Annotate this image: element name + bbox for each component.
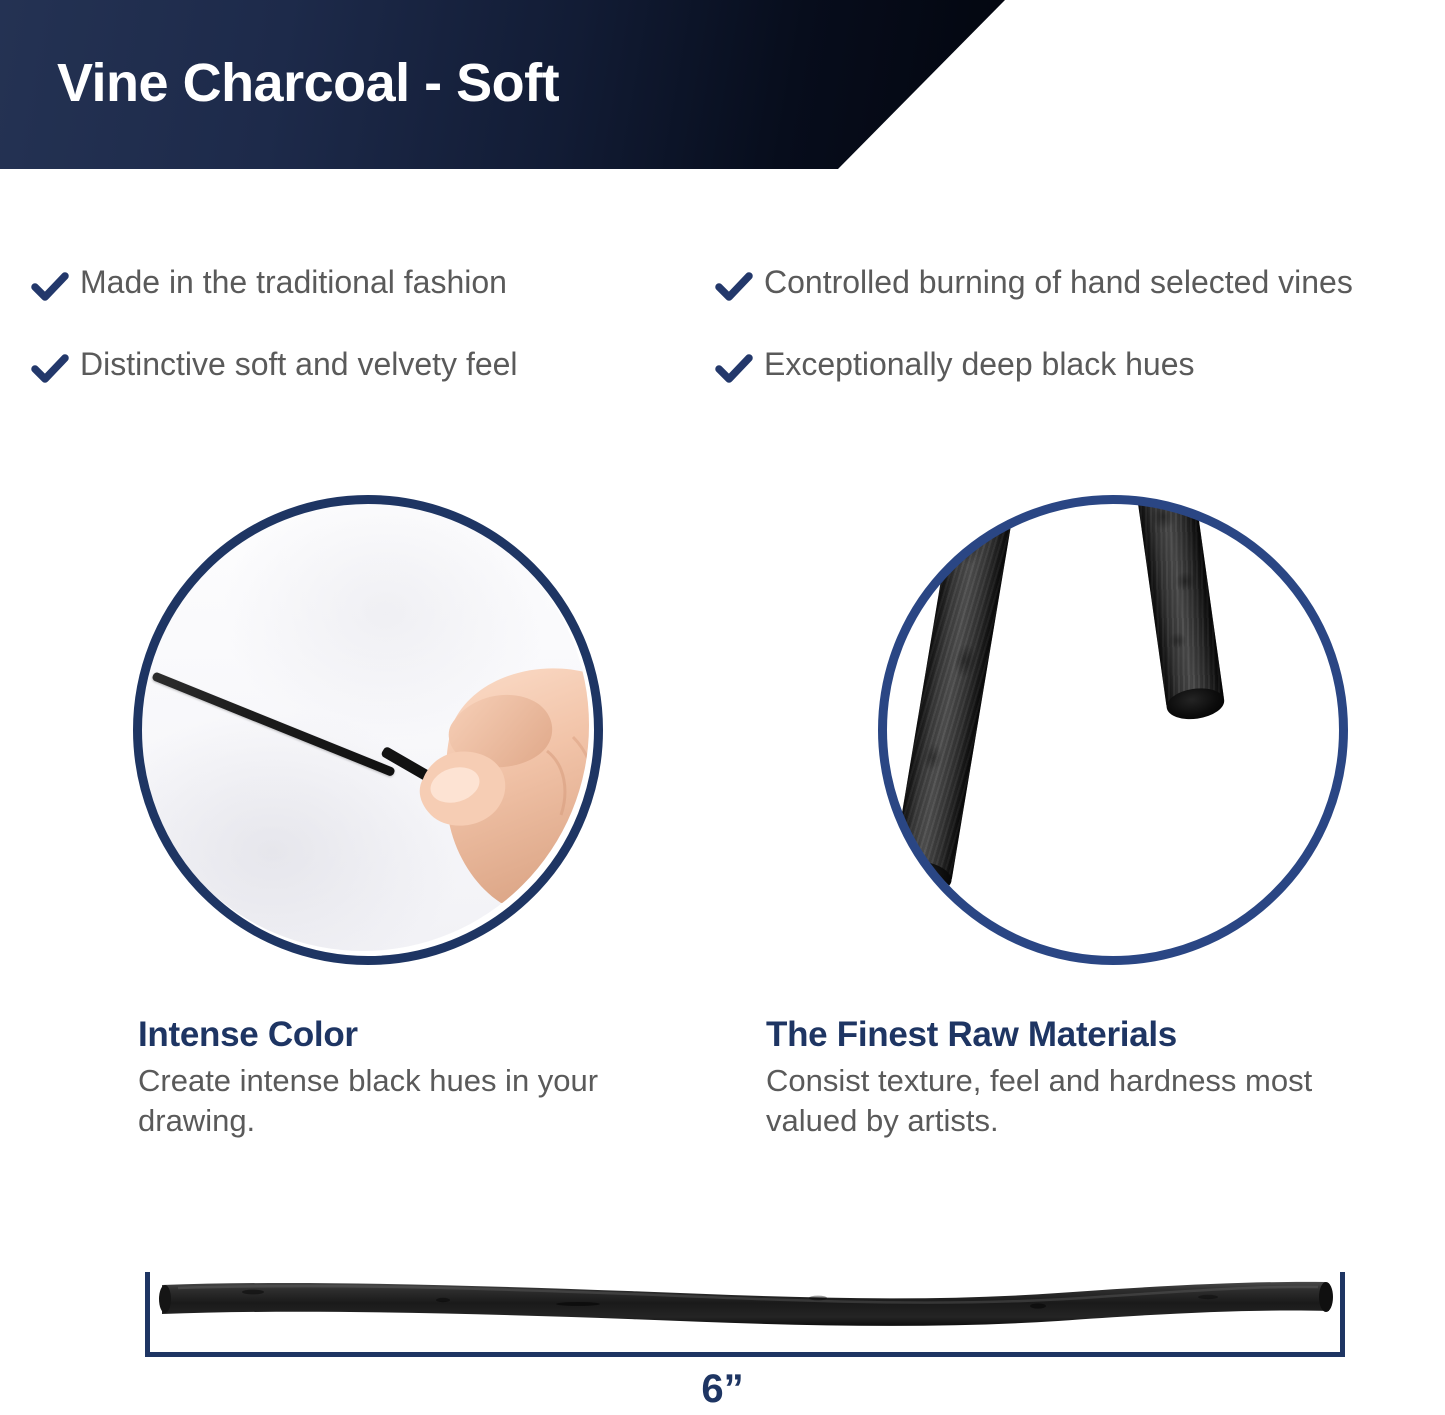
bullet-label: Made in the traditional fashion — [72, 262, 507, 303]
caption-title: The Finest Raw Materials — [766, 1015, 1386, 1055]
check-icon — [712, 348, 756, 392]
check-icon — [28, 348, 72, 392]
feature-right — [878, 495, 1445, 955]
check-icon — [28, 266, 72, 310]
page-title: Vine Charcoal - Soft — [57, 52, 559, 114]
measurement-bracket — [145, 1272, 1345, 1357]
drawing-photo — [137, 499, 589, 951]
caption-body: Consist texture, feel and hardness most … — [766, 1061, 1386, 1140]
circle-photo-left — [137, 499, 589, 951]
charcoal-rod-left — [891, 499, 1019, 888]
circle-photo-right — [882, 499, 1334, 951]
list-item: Made in the traditional fashion — [28, 262, 688, 310]
sticks-photo — [882, 499, 1334, 951]
bullet-label: Controlled burning of hand selected vine… — [756, 262, 1353, 303]
bracket-baseline — [145, 1352, 1345, 1357]
charcoal-rod-right — [1134, 499, 1225, 715]
list-item: Controlled burning of hand selected vine… — [712, 262, 1445, 310]
check-icon — [712, 266, 756, 310]
bullet-column-left: Made in the traditional fashion Distinct… — [28, 262, 688, 426]
rod-texture — [1134, 499, 1225, 715]
caption-title: Intense Color — [138, 1015, 698, 1055]
two-charcoal-sticks-photo — [878, 495, 1338, 955]
caption-right: The Finest Raw Materials Consist texture… — [766, 1015, 1386, 1141]
feature-left — [133, 495, 753, 955]
list-item: Exceptionally deep black hues — [712, 344, 1445, 392]
list-item: Distinctive soft and velvety feel — [28, 344, 688, 392]
hand-drawing-with-charcoal-photo — [133, 495, 593, 955]
header-banner: Vine Charcoal - Soft — [0, 0, 1005, 169]
hand-illustration — [351, 633, 589, 903]
bullet-label: Distinctive soft and velvety feel — [72, 344, 518, 385]
bullet-label: Exceptionally deep black hues — [756, 344, 1195, 385]
caption-body: Create intense black hues in your drawin… — [138, 1061, 698, 1140]
measurement-label: 6” — [0, 1367, 1445, 1412]
measurement-section: 6” — [0, 1255, 1445, 1415]
bullet-column-right: Controlled burning of hand selected vine… — [712, 262, 1445, 426]
bracket-tick-left — [145, 1272, 150, 1357]
rod-texture — [891, 499, 1019, 888]
bracket-tick-right — [1340, 1272, 1345, 1357]
caption-left: Intense Color Create intense black hues … — [138, 1015, 698, 1141]
feature-bullet-list: Made in the traditional fashion Distinct… — [0, 262, 1445, 462]
